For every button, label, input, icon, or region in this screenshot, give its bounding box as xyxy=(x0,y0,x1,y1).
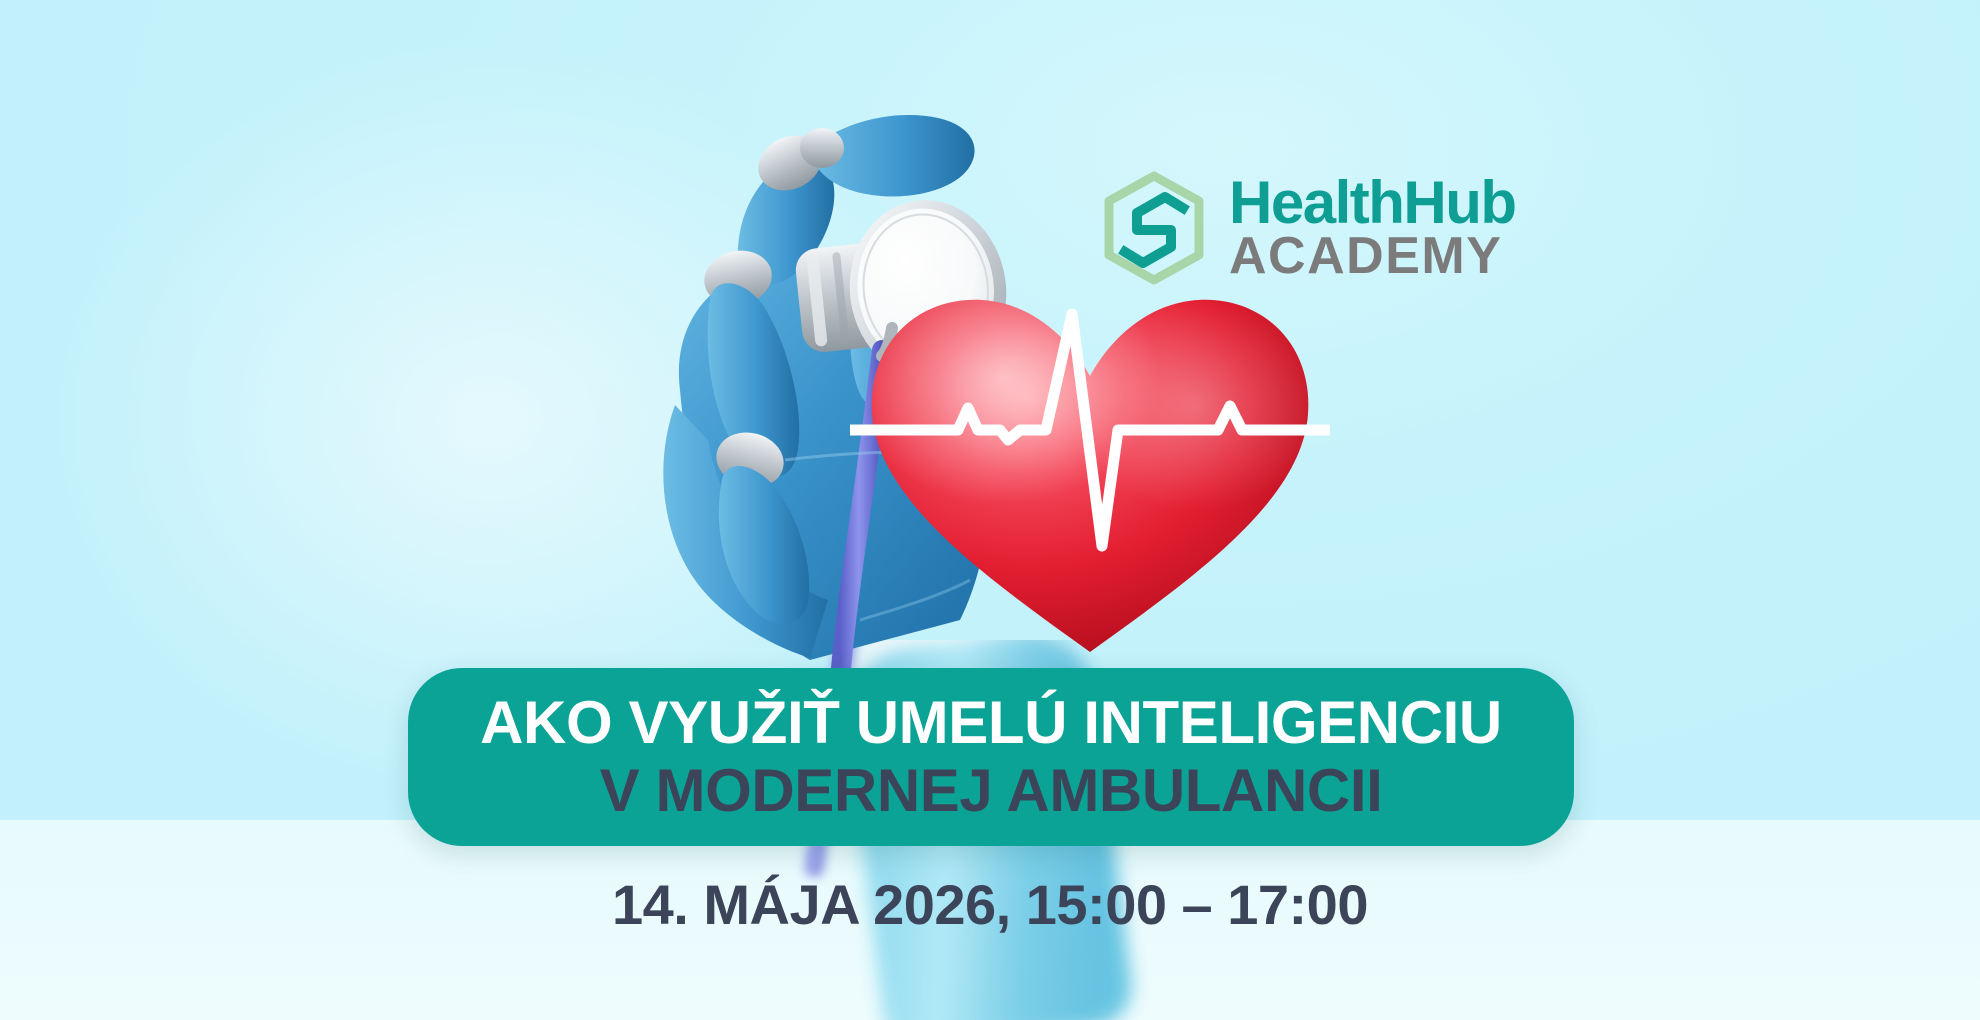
title-line-2: V MODERNEJ AMBULANCII xyxy=(600,760,1383,822)
event-poster: HealthHub ACADEMY AKO VYUŽIŤ UMELÚ INTEL… xyxy=(0,0,1980,1020)
brand-logo: HealthHub ACADEMY xyxy=(1095,168,1516,288)
title-banner: AKO VYUŽIŤ UMELÚ INTELIGENCIU V MODERNEJ… xyxy=(408,668,1574,846)
logo-name: HealthHub xyxy=(1229,174,1516,232)
event-datetime: 14. MÁJA 2026, 15:00 – 17:00 xyxy=(0,872,1980,937)
logo-subtitle: ACADEMY xyxy=(1229,232,1516,282)
hexagon-swirl-icon xyxy=(1095,168,1213,288)
title-line-1: AKO VYUŽIŤ UMELÚ INTELIGENCIU xyxy=(480,692,1502,754)
heart-icon xyxy=(850,270,1330,670)
